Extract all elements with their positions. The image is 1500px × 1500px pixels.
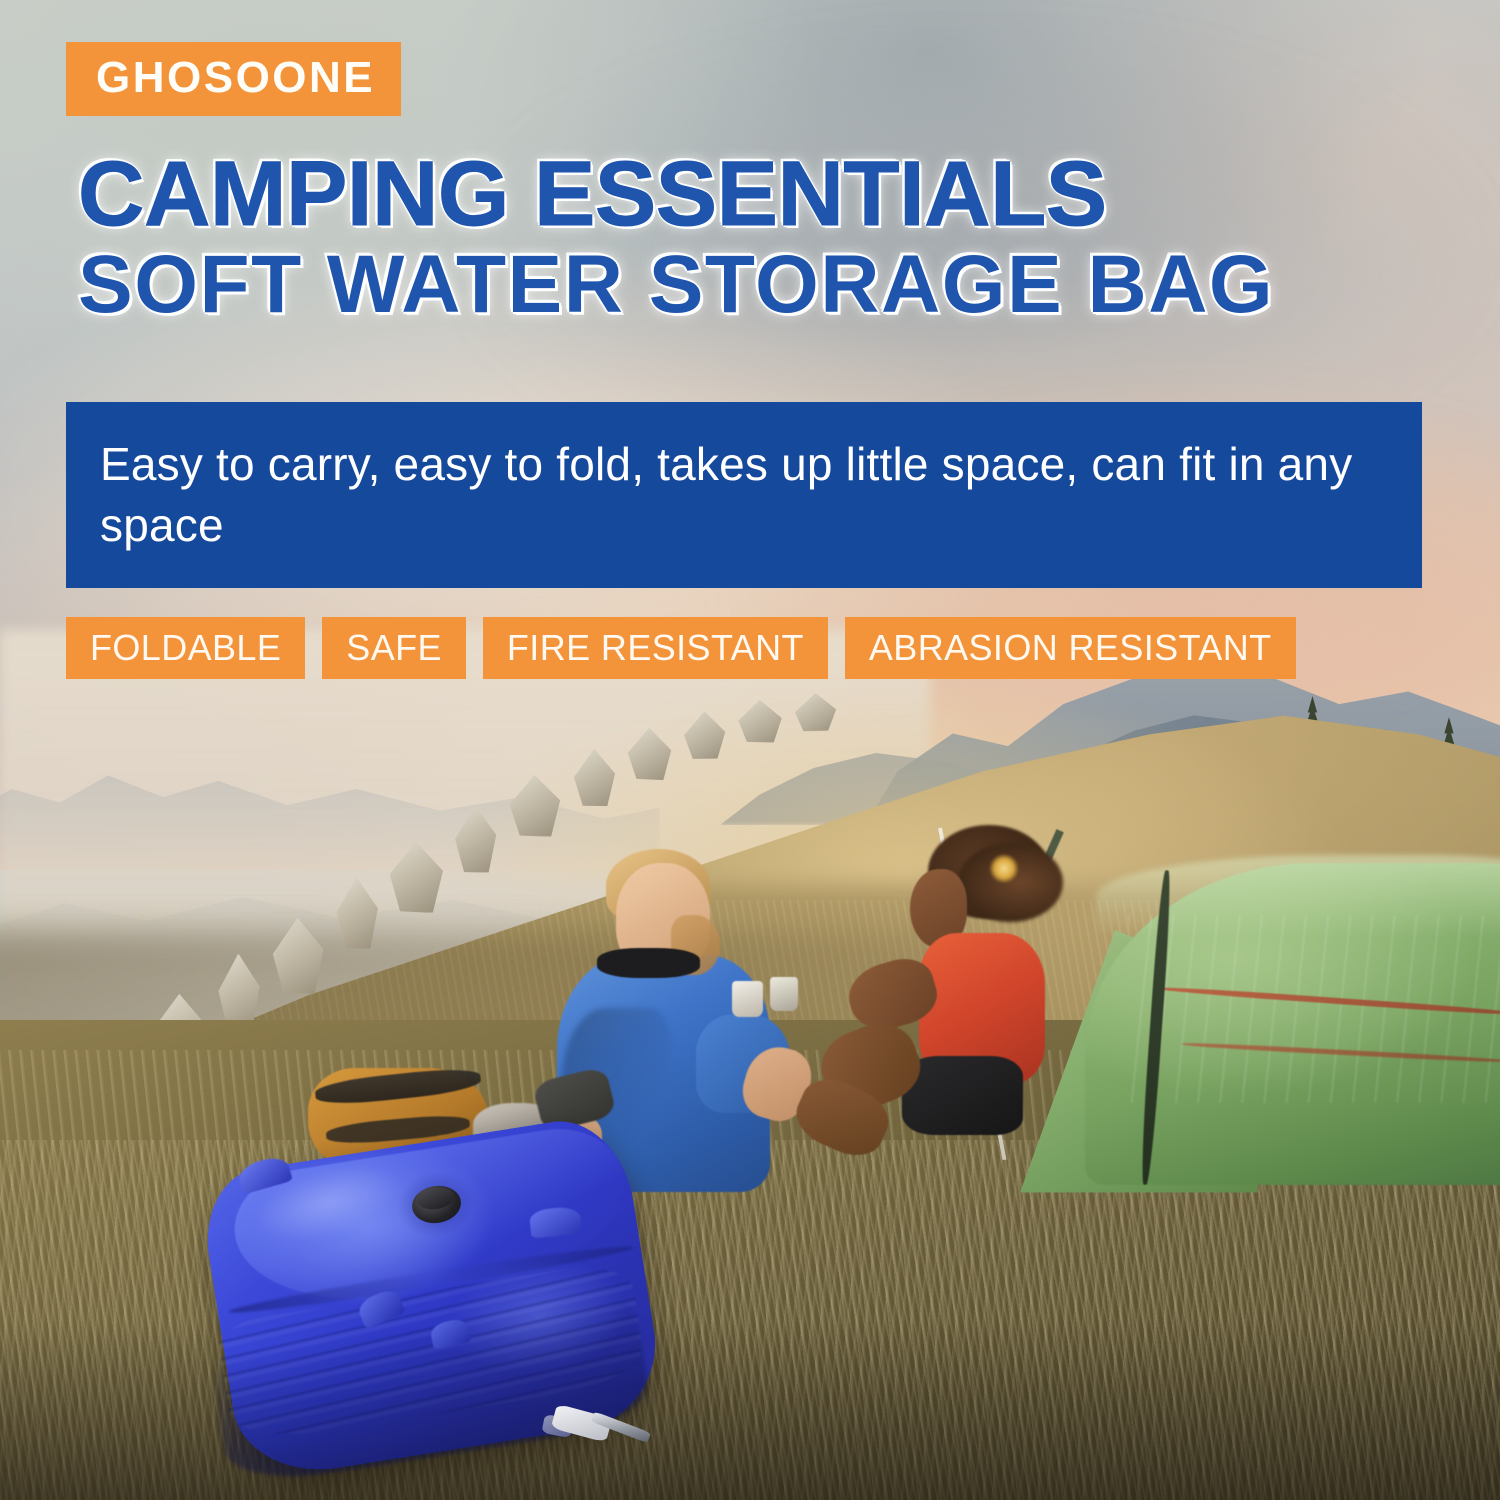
feature-tag-label: FOLDABLE <box>90 630 281 666</box>
feature-tag-foldable: FOLDABLE <box>66 617 305 679</box>
feature-tag-safe: SAFE <box>322 617 466 679</box>
feature-tag-label: SAFE <box>346 630 442 666</box>
headline-line-2: SOFT WATER STORAGE BAG <box>78 246 1438 324</box>
feature-tag-label: ABRASION RESISTANT <box>869 630 1272 666</box>
text-overlay: GHOSOONE CAMPING ESSENTIALS SOFT WATER S… <box>0 0 1500 1500</box>
product-marketing-poster: GHOSOONE CAMPING ESSENTIALS SOFT WATER S… <box>0 0 1500 1500</box>
feature-tag-list: FOLDABLE SAFE FIRE RESISTANT ABRASION RE… <box>66 617 1296 679</box>
brand-name: GHOSOONE <box>96 56 375 100</box>
feature-tag-label: FIRE RESISTANT <box>507 630 804 666</box>
headline-line-1: CAMPING ESSENTIALS <box>78 152 1438 238</box>
brand-badge: GHOSOONE <box>66 42 401 116</box>
headline-block: CAMPING ESSENTIALS SOFT WATER STORAGE BA… <box>78 152 1438 323</box>
feature-tag-abrasion-resistant: ABRASION RESISTANT <box>845 617 1296 679</box>
subhead-panel: Easy to carry, easy to fold, takes up li… <box>66 402 1422 588</box>
subhead-text: Easy to carry, easy to fold, takes up li… <box>66 434 1422 556</box>
feature-tag-fire-resistant: FIRE RESISTANT <box>483 617 828 679</box>
